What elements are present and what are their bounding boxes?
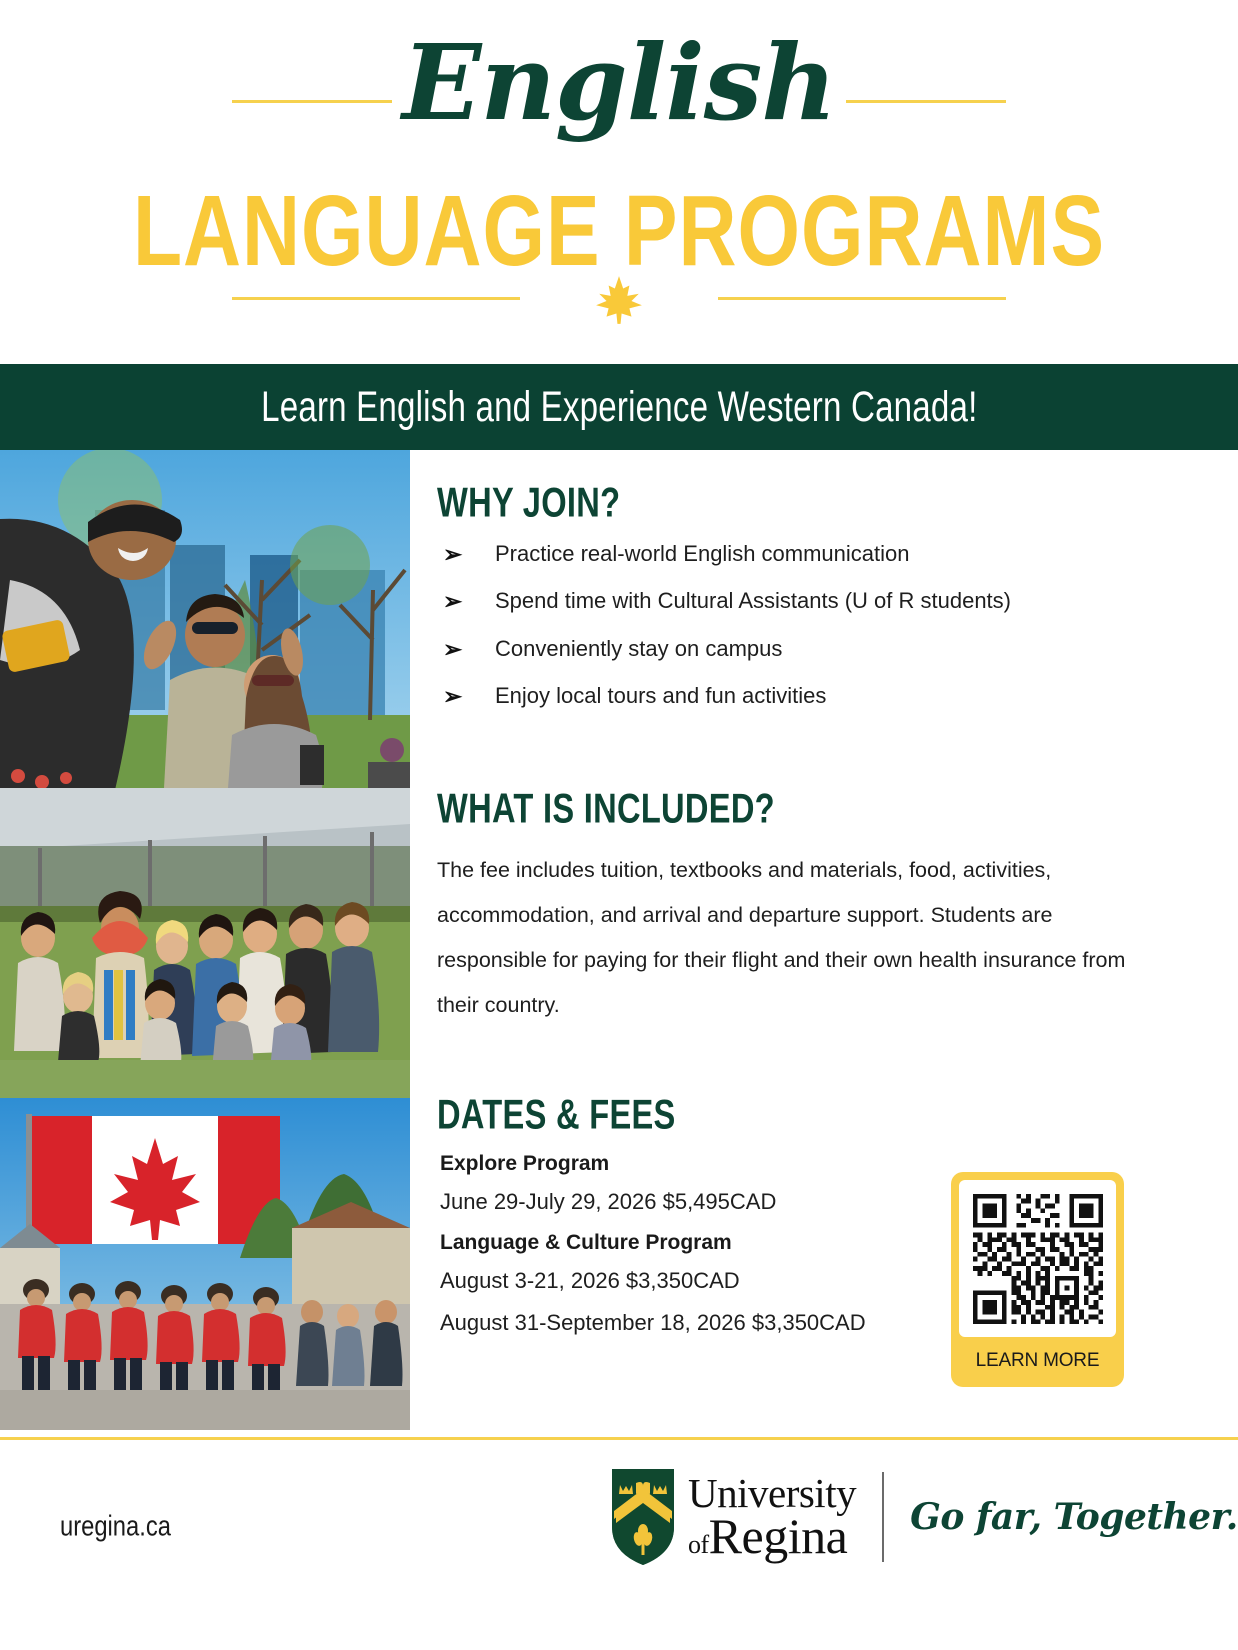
list-item: ➢ Conveniently stay on campus: [443, 637, 1143, 662]
dates-and-fees-heading: DATES & FEES: [437, 1092, 676, 1140]
arrow-right-icon: ➢: [443, 589, 495, 614]
learn-more-qr-card[interactable]: LEARN MORE: [951, 1172, 1124, 1387]
arrow-right-icon: ➢: [443, 684, 495, 709]
dates-and-fees-list: Explore Program June 29-July 29, 2026 $5…: [440, 1152, 960, 1352]
uofr-wordmark-regina: Regina: [709, 1508, 848, 1564]
uofr-wordmark-of: of: [688, 1530, 709, 1559]
hero-script-title: English: [0, 28, 1238, 137]
list-item-label: Practice real-world English communicatio…: [495, 542, 910, 566]
photo-rcmp-flag: [0, 1098, 410, 1430]
photo-group-powwow: [0, 788, 410, 1098]
uofr-wordmark-line2: ofRegina: [688, 1513, 856, 1559]
photo-students-park: [0, 450, 410, 788]
learn-more-label[interactable]: LEARN MORE: [959, 1350, 1116, 1372]
why-join-heading: WHY JOIN?: [437, 480, 620, 528]
program-date-fee: August 3-21, 2026 $3,350CAD: [440, 1268, 960, 1294]
hero-rule-bottom-right: [718, 297, 1006, 300]
list-item-label: Conveniently stay on campus: [495, 637, 782, 661]
program-date-fee: August 31-September 18, 2026 $3,350CAD: [440, 1310, 960, 1336]
banner-text: Learn English and Experience Western Can…: [261, 382, 977, 432]
list-item-label: Enjoy local tours and fun activities: [495, 684, 826, 708]
what-is-included-heading: WHAT IS INCLUDED?: [437, 786, 775, 834]
qr-code-icon[interactable]: [959, 1180, 1116, 1337]
hero-header: English LANGUAGE PROGRAMS: [0, 0, 1238, 360]
maple-leaf-icon: [592, 274, 646, 326]
logo-divider: [882, 1472, 884, 1562]
what-is-included-paragraph: The fee includes tuition, textbooks and …: [437, 848, 1143, 1029]
list-item: ➢ Practice real-world English communicat…: [443, 542, 1143, 567]
uofr-shield-icon: [612, 1469, 674, 1565]
uofr-wordmark: University ofRegina: [688, 1475, 856, 1559]
list-item: ➢ Enjoy local tours and fun activities: [443, 684, 1143, 709]
program-name: Explore Program: [440, 1152, 960, 1176]
list-item: ➢ Spend time with Cultural Assistants (U…: [443, 589, 1143, 614]
arrow-right-icon: ➢: [443, 542, 495, 567]
banner: Learn English and Experience Western Can…: [0, 364, 1238, 450]
program-date-fee: June 29-July 29, 2026 $5,495CAD: [440, 1189, 960, 1215]
hero-rule-bottom-left: [232, 297, 520, 300]
uofr-logo: University ofRegina Go far, Together.: [612, 1462, 1238, 1572]
program-name: Language & Culture Program: [440, 1231, 960, 1255]
arrow-right-icon: ➢: [443, 637, 495, 662]
footer-url[interactable]: uregina.ca: [60, 1510, 171, 1543]
photo-column: [0, 450, 410, 1430]
footer-divider: [0, 1437, 1238, 1440]
why-join-list: ➢ Practice real-world English communicat…: [443, 542, 1143, 731]
hero-main-title: LANGUAGE PROGRAMS: [12, 182, 1225, 282]
footer-tagline: Go far, Together.: [910, 1496, 1238, 1538]
list-item-label: Spend time with Cultural Assistants (U o…: [495, 589, 1011, 613]
